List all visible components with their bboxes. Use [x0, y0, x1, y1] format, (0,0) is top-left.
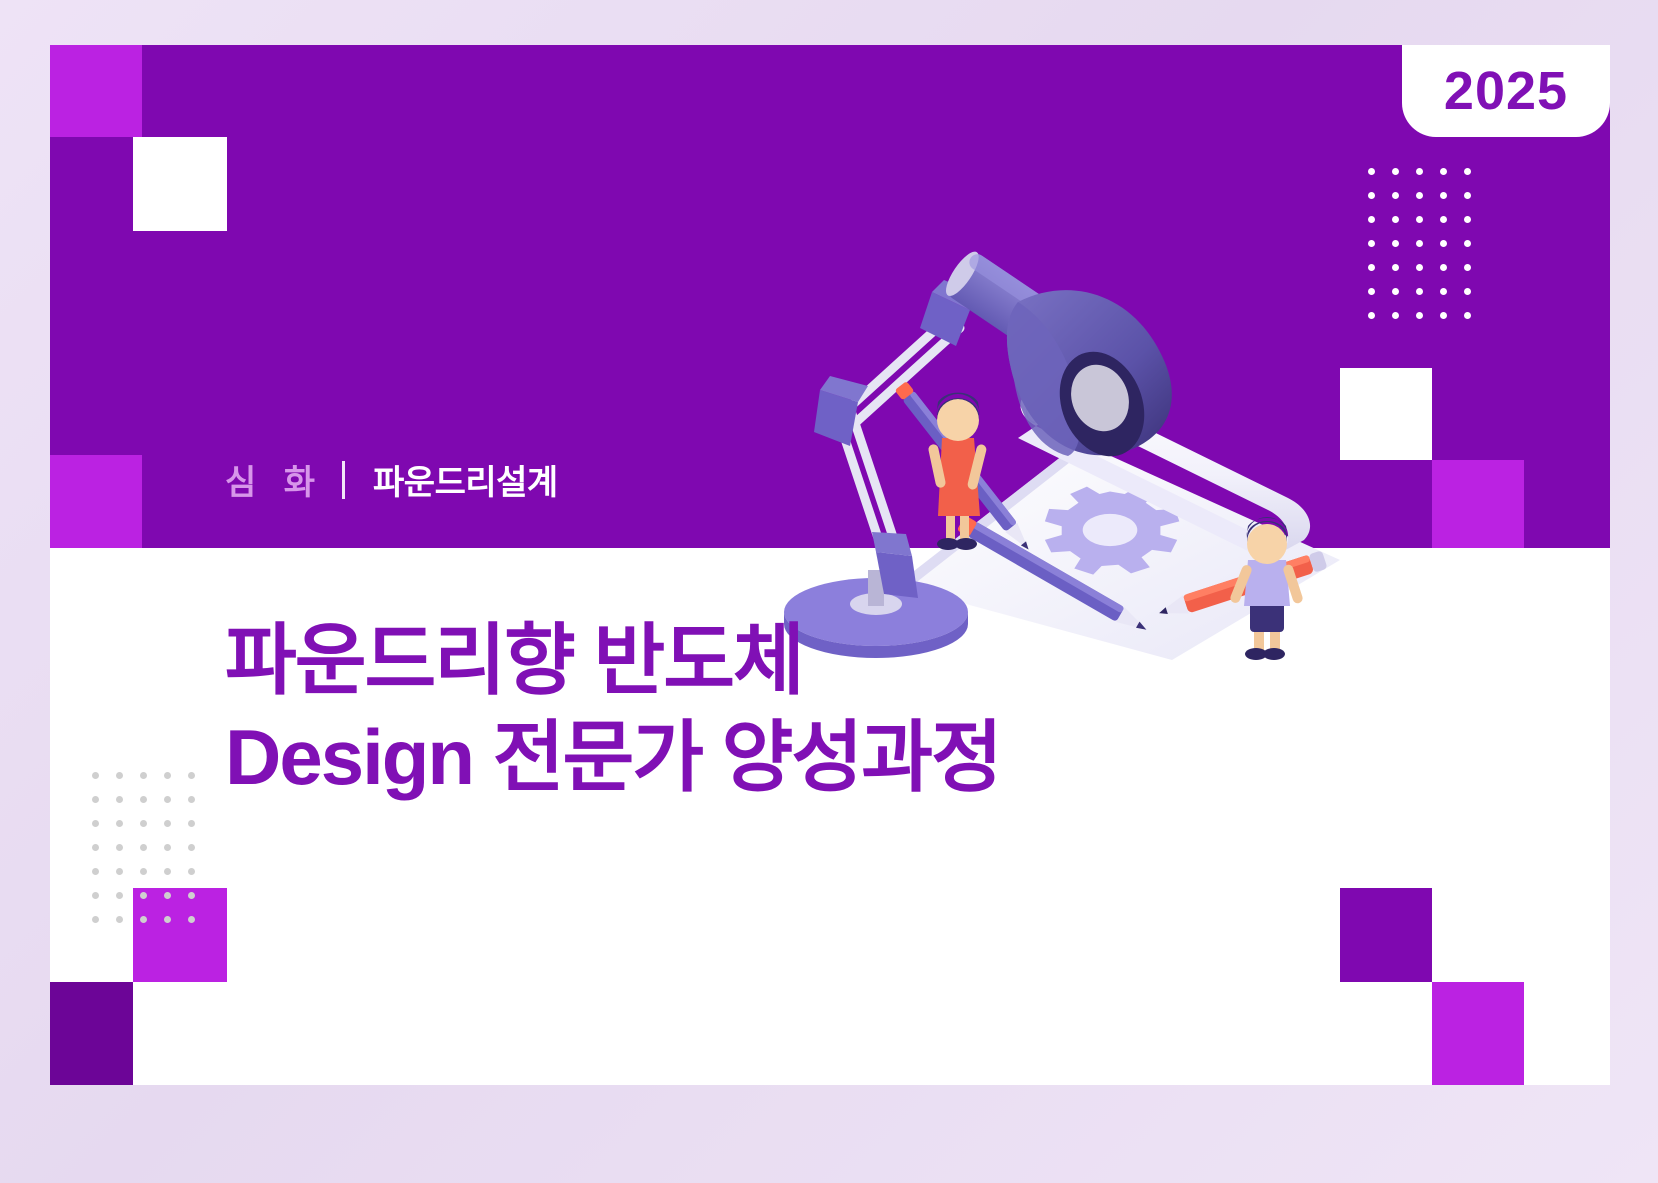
decor-square-purple-br — [1340, 888, 1432, 982]
gray-dot-grid — [92, 772, 212, 940]
dot — [1392, 264, 1399, 271]
dot — [188, 796, 195, 803]
dot — [1392, 192, 1399, 199]
dot — [1392, 312, 1399, 319]
dot — [1440, 264, 1447, 271]
dot — [1440, 240, 1447, 247]
dot — [164, 868, 171, 875]
year-badge-label: 2025 — [1444, 64, 1568, 118]
dot — [1416, 216, 1423, 223]
dot — [1416, 312, 1423, 319]
dot — [188, 772, 195, 779]
dot — [140, 868, 147, 875]
isometric-illustration — [780, 230, 1340, 660]
subtitle-row: 심 화 파운드리설계 — [225, 455, 558, 504]
dot — [1416, 240, 1423, 247]
dot — [1368, 216, 1375, 223]
dot — [116, 844, 123, 851]
poster-canvas: 2025 — [0, 0, 1658, 1183]
decor-square-white-right — [1340, 368, 1432, 460]
title-line-1: 파운드리향 반도체 — [225, 612, 1001, 709]
subtitle-divider — [342, 461, 345, 499]
dot — [92, 868, 99, 875]
dot — [1416, 264, 1423, 271]
decor-square-accent-left-mid — [50, 455, 142, 548]
dot — [140, 844, 147, 851]
dot — [1464, 192, 1471, 199]
dot — [1440, 168, 1447, 175]
subtitle-track: 파운드리설계 — [373, 455, 558, 504]
dot — [1464, 312, 1471, 319]
dot — [92, 820, 99, 827]
dot — [164, 844, 171, 851]
dot — [188, 916, 195, 923]
dot — [164, 796, 171, 803]
dot — [1368, 264, 1375, 271]
dot — [92, 844, 99, 851]
decor-square-white-tl — [133, 137, 227, 231]
dot — [140, 796, 147, 803]
dot — [1464, 240, 1471, 247]
dot — [1368, 288, 1375, 295]
dot — [1440, 192, 1447, 199]
dot — [140, 820, 147, 827]
dot — [116, 820, 123, 827]
dot — [116, 796, 123, 803]
decor-square-accent-tl — [50, 45, 142, 137]
dot — [140, 916, 147, 923]
decor-square-deep-bl — [50, 982, 133, 1085]
dot — [1416, 192, 1423, 199]
dot — [188, 820, 195, 827]
dot — [116, 916, 123, 923]
dot — [164, 892, 171, 899]
dot — [1440, 216, 1447, 223]
dot — [92, 796, 99, 803]
dot — [164, 772, 171, 779]
dot — [188, 892, 195, 899]
subtitle-kicker: 심 화 — [225, 455, 324, 504]
dot — [1464, 168, 1471, 175]
page-title: 파운드리향 반도체 Design 전문가 양성과정 — [225, 612, 1001, 805]
dot — [188, 844, 195, 851]
decor-square-accent-br — [1432, 982, 1524, 1085]
dot — [116, 868, 123, 875]
dot — [116, 892, 123, 899]
dot — [164, 820, 171, 827]
dot — [92, 892, 99, 899]
dot — [1392, 288, 1399, 295]
dot — [1368, 192, 1375, 199]
dot — [1368, 240, 1375, 247]
dot — [1392, 216, 1399, 223]
dot — [1440, 312, 1447, 319]
decor-square-accent-right — [1432, 460, 1524, 548]
dot — [140, 772, 147, 779]
woman-with-pencil — [895, 381, 1035, 554]
dot — [1464, 216, 1471, 223]
dot — [1392, 168, 1399, 175]
dot — [1368, 312, 1375, 319]
dot — [92, 772, 99, 779]
dot — [1416, 288, 1423, 295]
dot — [188, 868, 195, 875]
white-dot-grid — [1368, 168, 1488, 336]
dot — [1440, 288, 1447, 295]
dot — [116, 772, 123, 779]
dot — [140, 892, 147, 899]
dot — [1416, 168, 1423, 175]
title-line-2: Design 전문가 양성과정 — [225, 709, 1001, 806]
dot — [1368, 168, 1375, 175]
dot — [1464, 288, 1471, 295]
year-badge: 2025 — [1402, 45, 1610, 137]
dot — [1464, 264, 1471, 271]
dot — [164, 916, 171, 923]
dot — [1392, 240, 1399, 247]
dot — [92, 916, 99, 923]
